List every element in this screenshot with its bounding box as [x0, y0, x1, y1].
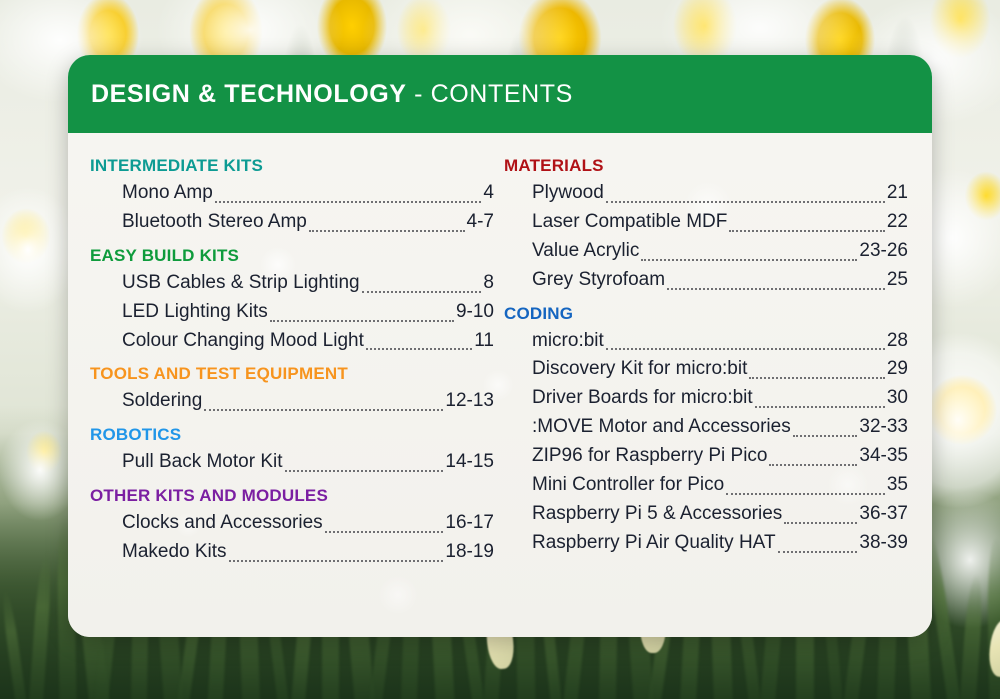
toc-entry-label: Bluetooth Stereo Amp: [122, 208, 307, 237]
toc-entry[interactable]: Driver Boards for micro:bit30: [500, 384, 908, 413]
dot-leader: [325, 531, 444, 533]
toc-entry-label: Driver Boards for micro:bit: [532, 384, 753, 413]
toc-section: EASY BUILD KITSUSB Cables & Strip Lighti…: [86, 246, 494, 356]
toc-entry-page-number: 16-17: [444, 509, 494, 538]
toc-entry-page-number: 38-39: [858, 529, 908, 558]
toc-entry-page-number: 23-26: [858, 237, 908, 266]
toc-entry-label: Raspberry Pi 5 & Accessories: [532, 500, 782, 529]
toc-entry-label: Pull Back Motor Kit: [122, 448, 283, 477]
toc-entry-page-number: 35: [886, 471, 908, 500]
dot-leader: [366, 348, 472, 350]
toc-entry[interactable]: USB Cables & Strip Lighting8: [86, 269, 494, 298]
toc-entry-label: Soldering: [122, 387, 202, 416]
dot-leader: [729, 230, 885, 232]
toc-entry[interactable]: Laser Compatible MDF22: [500, 208, 908, 237]
toc-entry-label: Raspberry Pi Air Quality HAT: [532, 529, 776, 558]
toc-entry-page-number: 25: [886, 266, 908, 295]
section-title: OTHER KITS AND MODULES: [86, 486, 494, 506]
toc-section: MATERIALSPlywood21Laser Compatible MDF22…: [500, 156, 908, 295]
toc-entry-label: Value Acrylic: [532, 237, 639, 266]
toc-entry-page-number: 14-15: [444, 448, 494, 477]
section-title: ROBOTICS: [86, 425, 494, 445]
dot-leader: [784, 522, 857, 524]
toc-entry-page-number: 32-33: [858, 413, 908, 442]
dot-leader: [362, 291, 482, 293]
dot-leader: [606, 201, 885, 203]
dot-leader: [270, 320, 454, 322]
dot-leader: [641, 259, 857, 261]
toc-entry[interactable]: Clocks and Accessories16-17: [86, 509, 494, 538]
dot-leader: [204, 409, 443, 411]
dot-leader: [749, 377, 884, 379]
toc-entry-label: USB Cables & Strip Lighting: [122, 269, 360, 298]
toc-entry-label: Clocks and Accessories: [122, 509, 323, 538]
toc-entry[interactable]: :MOVE Motor and Accessories32-33: [500, 413, 908, 442]
toc-entry-label: micro:bit: [532, 327, 604, 356]
toc-entry-label: Grey Styrofoam: [532, 266, 665, 295]
toc-entry[interactable]: Colour Changing Mood Light11: [86, 327, 494, 356]
toc-entry[interactable]: ZIP96 for Raspberry Pi Pico34-35: [500, 442, 908, 471]
toc-entry[interactable]: Mono Amp4: [86, 179, 494, 208]
section-title: CODING: [500, 304, 908, 324]
dot-leader: [309, 230, 465, 232]
toc-entry-page-number: 8: [482, 269, 494, 298]
section-title: MATERIALS: [500, 156, 908, 176]
contents-card: DESIGN & TECHNOLOGY - CONTENTS INTERMEDI…: [68, 55, 932, 637]
toc-entry[interactable]: Soldering12-13: [86, 387, 494, 416]
contents-columns: INTERMEDIATE KITSMono Amp4Bluetooth Ster…: [68, 133, 932, 573]
toc-entry[interactable]: Discovery Kit for micro:bit29: [500, 355, 908, 384]
toc-section: ROBOTICSPull Back Motor Kit14-15: [86, 425, 494, 477]
toc-entry-page-number: 12-13: [444, 387, 494, 416]
page-title-light: - CONTENTS: [407, 80, 573, 108]
toc-entry[interactable]: Bluetooth Stereo Amp4-7: [86, 208, 494, 237]
toc-entry-label: Plywood: [532, 179, 604, 208]
toc-entry-page-number: 28: [886, 327, 908, 356]
toc-entry-label: :MOVE Motor and Accessories: [532, 413, 791, 442]
section-title: INTERMEDIATE KITS: [86, 156, 494, 176]
grass-blade: [0, 589, 27, 699]
toc-entry[interactable]: micro:bit28: [500, 327, 908, 356]
grass-blade: [959, 574, 984, 699]
toc-section: TOOLS AND TEST EQUIPMENTSoldering12-13: [86, 364, 494, 416]
toc-entry-label: ZIP96 for Raspberry Pi Pico: [532, 442, 767, 471]
dot-leader: [793, 435, 858, 437]
contents-column-right: MATERIALSPlywood21Laser Compatible MDF22…: [500, 147, 908, 573]
toc-entry-page-number: 21: [886, 179, 908, 208]
dot-leader: [606, 348, 885, 350]
toc-entry[interactable]: Mini Controller for Pico35: [500, 471, 908, 500]
dot-leader: [285, 470, 444, 472]
section-title: EASY BUILD KITS: [86, 246, 494, 266]
toc-entry-page-number: 34-35: [858, 442, 908, 471]
toc-entry[interactable]: Value Acrylic23-26: [500, 237, 908, 266]
toc-entry[interactable]: Grey Styrofoam25: [500, 266, 908, 295]
toc-entry-page-number: 4-7: [466, 208, 494, 237]
toc-entry[interactable]: LED Lighting Kits9-10: [86, 298, 494, 327]
toc-entry[interactable]: Pull Back Motor Kit14-15: [86, 448, 494, 477]
toc-entry-label: Discovery Kit for micro:bit: [532, 355, 747, 384]
toc-entry-page-number: 18-19: [444, 538, 494, 567]
dot-leader: [229, 560, 444, 562]
dot-leader: [769, 464, 857, 466]
toc-entry[interactable]: Plywood21: [500, 179, 908, 208]
dot-leader: [726, 493, 885, 495]
toc-section: OTHER KITS AND MODULESClocks and Accesso…: [86, 486, 494, 567]
grass-blade: [29, 552, 54, 699]
card-header: DESIGN & TECHNOLOGY - CONTENTS: [68, 55, 932, 133]
toc-entry-page-number: 22: [886, 208, 908, 237]
toc-entry-label: LED Lighting Kits: [122, 298, 268, 327]
toc-entry-page-number: 9-10: [455, 298, 494, 327]
dot-leader: [667, 288, 885, 290]
toc-section: INTERMEDIATE KITSMono Amp4Bluetooth Ster…: [86, 156, 494, 237]
toc-entry-label: Laser Compatible MDF: [532, 208, 727, 237]
toc-section: CODINGmicro:bit28Discovery Kit for micro…: [500, 304, 908, 558]
toc-entry-page-number: 29: [886, 355, 908, 384]
toc-entry-page-number: 4: [482, 179, 494, 208]
toc-entry-page-number: 11: [473, 327, 494, 356]
toc-entry-label: Mini Controller for Pico: [532, 471, 724, 500]
toc-entry-label: Colour Changing Mood Light: [122, 327, 364, 356]
toc-entry[interactable]: Raspberry Pi 5 & Accessories36-37: [500, 500, 908, 529]
dot-leader: [755, 406, 885, 408]
dot-leader: [215, 201, 482, 203]
section-title: TOOLS AND TEST EQUIPMENT: [86, 364, 494, 384]
dot-leader: [778, 551, 858, 553]
toc-entry[interactable]: Makedo Kits18-19: [86, 538, 494, 567]
toc-entry-page-number: 36-37: [858, 500, 908, 529]
contents-column-left: INTERMEDIATE KITSMono Amp4Bluetooth Ster…: [86, 147, 494, 573]
toc-entry-label: Makedo Kits: [122, 538, 227, 567]
toc-entry-page-number: 30: [886, 384, 908, 413]
page-title-bold: DESIGN & TECHNOLOGY: [91, 80, 407, 108]
page-title: DESIGN & TECHNOLOGY - CONTENTS: [91, 80, 573, 109]
toc-entry-label: Mono Amp: [122, 179, 213, 208]
toc-entry[interactable]: Raspberry Pi Air Quality HAT38-39: [500, 529, 908, 558]
